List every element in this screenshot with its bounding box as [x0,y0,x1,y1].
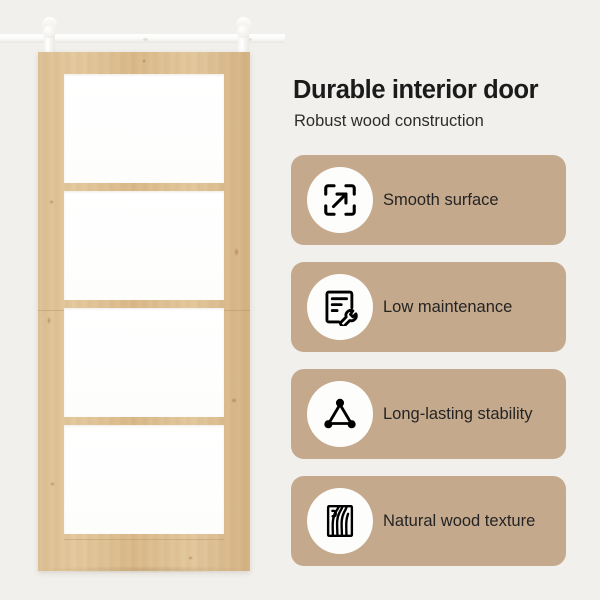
document-wrench-icon [307,274,373,340]
expand-arrow-icon [307,167,373,233]
wood-seam [38,310,64,311]
feature-card-natural-wood-texture[interactable]: Natural wood texture [291,476,566,566]
content-column: Durable interior door Robust wood constr… [286,0,600,600]
feature-label: Smooth surface [383,155,507,245]
wood-knot [231,398,237,403]
wood-knot [47,317,51,324]
feature-label: Long-lasting stability [383,369,541,459]
feature-card-long-lasting-stability[interactable]: Long-lasting stability [291,369,566,459]
wood-knot [188,556,193,560]
triangle-nodes-icon [307,381,373,447]
wood-knot [49,200,54,204]
page-title: Durable interior door [293,76,593,104]
feature-label: Natural wood texture [383,476,543,566]
roller-wheel [237,25,250,38]
glass-panel [64,425,224,534]
wood-knot [142,59,146,63]
wood-knot [234,248,239,256]
feature-list: Smooth surface Low maintenance [291,155,572,583]
feature-label: Low maintenance [383,262,520,352]
wood-seam [64,539,224,540]
door-drop-shadow [36,566,254,573]
glass-panel [64,74,224,183]
wood-grain-icon [307,488,373,554]
wood-seam [224,310,250,311]
page-subtitle: Robust wood construction [294,112,594,132]
promo-banner: Durable interior door Robust wood constr… [0,0,600,600]
door-slab [38,52,250,571]
roller-wheel [43,25,56,38]
feature-card-low-maintenance[interactable]: Low maintenance [291,262,566,352]
glass-panel [64,191,224,300]
product-photo [0,0,285,600]
feature-card-smooth-surface[interactable]: Smooth surface [291,155,566,245]
wood-knot [50,482,55,486]
glass-panel [64,308,224,417]
rail-screw [143,38,148,41]
